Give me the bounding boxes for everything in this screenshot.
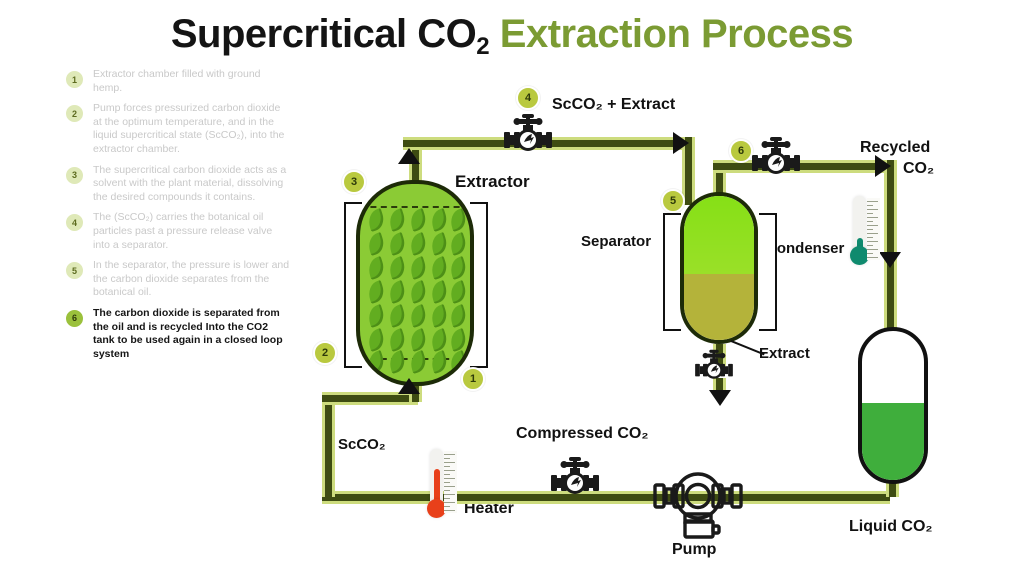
label-scco2: ScCO₂ bbox=[338, 436, 386, 453]
hemp-fill bbox=[360, 184, 470, 382]
label-recycled-co2-line1: Recycled bbox=[860, 139, 930, 157]
pipe-recycle-down bbox=[884, 160, 897, 332]
step-text-4: The (ScCO₂) carries the botanical oil pa… bbox=[93, 211, 292, 252]
heater-thermo-tube bbox=[430, 449, 443, 505]
step-badge-4: 4 bbox=[64, 212, 85, 233]
step-item-4: 4 The (ScCO₂) carries the botanical oil … bbox=[64, 211, 292, 252]
condenser-thermo-scale bbox=[867, 198, 880, 260]
label-liquid-co2: Liquid CO₂ bbox=[849, 518, 933, 536]
arrow-extractor-inlet bbox=[398, 378, 420, 394]
liquid-co2-tank[interactable] bbox=[858, 327, 928, 484]
page-title-black: Supercritical CO bbox=[171, 12, 476, 56]
valve-extractor-outlet[interactable] bbox=[500, 112, 556, 165]
label-recycled-co2-line2: CO₂ bbox=[903, 160, 934, 178]
condenser-thermo-tube bbox=[853, 196, 866, 252]
label-scco2-plus-extract: ScCO₂ + Extract bbox=[552, 96, 675, 114]
page-title-subscript: 2 bbox=[476, 33, 489, 60]
step-text-5: In the separator, the pressure is lower … bbox=[93, 259, 292, 300]
pipe-extractor-feed-v bbox=[322, 392, 335, 497]
badge-5[interactable]: 5 bbox=[661, 189, 685, 213]
separator-jacket-left bbox=[663, 213, 681, 331]
separator-jacket-right bbox=[759, 213, 777, 331]
arrow-to-separator bbox=[673, 132, 689, 154]
step-badge-3: 3 bbox=[64, 165, 85, 186]
diagram-canvas: Supercritical CO2 Extraction Process 1 E… bbox=[0, 0, 1024, 576]
page-title-green: Extraction Process bbox=[500, 12, 853, 56]
step-text-6: The carbon dioxide is separated from the… bbox=[93, 307, 292, 361]
separator-gas-phase bbox=[684, 196, 754, 274]
label-separator: Separator bbox=[581, 233, 651, 250]
separator-vessel[interactable] bbox=[680, 192, 758, 344]
label-extract: Extract bbox=[759, 345, 810, 362]
label-compressed-co2: Compressed CO₂ bbox=[516, 425, 648, 443]
heater-thermo-scale bbox=[444, 451, 457, 513]
valve-extract-drain[interactable] bbox=[692, 341, 736, 398]
page-title: Supercritical CO2 Extraction Process bbox=[0, 12, 1024, 57]
step-item-6: 6 The carbon dioxide is separated from t… bbox=[64, 307, 292, 361]
step-item-2: 2 Pump forces pressurized carbon dioxide… bbox=[64, 102, 292, 156]
steps-list: 1 Extractor chamber filled with ground h… bbox=[64, 68, 292, 368]
step-badge-1: 1 bbox=[64, 69, 85, 90]
step-item-3: 3 The supercritical carbon dioxide acts … bbox=[64, 164, 292, 205]
step-item-5: 5 In the separator, the pressure is lowe… bbox=[64, 259, 292, 300]
step-badge-2: 2 bbox=[64, 103, 85, 124]
step-item-1: 1 Extractor chamber filled with ground h… bbox=[64, 68, 292, 95]
badge-2[interactable]: 2 bbox=[313, 341, 337, 365]
valve-recycle[interactable] bbox=[748, 135, 804, 188]
arrow-extractor-outlet bbox=[398, 148, 420, 164]
badge-1[interactable]: 1 bbox=[461, 367, 485, 391]
badge-4[interactable]: 4 bbox=[516, 86, 540, 110]
step-badge-5: 5 bbox=[64, 260, 85, 281]
arrow-recycle-down bbox=[879, 252, 901, 268]
extractor-vessel[interactable] bbox=[356, 180, 474, 386]
label-condenser: Condenser bbox=[766, 240, 844, 257]
step-text-3: The supercritical carbon dioxide acts as… bbox=[93, 164, 292, 205]
valve-compressed-co2[interactable] bbox=[547, 455, 603, 508]
step-badge-6: 6 bbox=[64, 308, 85, 329]
arrow-recycled bbox=[875, 155, 891, 177]
step-text-1: Extractor chamber filled with ground hem… bbox=[93, 68, 292, 95]
badge-3[interactable]: 3 bbox=[342, 170, 366, 194]
pipe-bottom-right bbox=[730, 491, 890, 504]
step-text-2: Pump forces pressurized carbon dioxide a… bbox=[93, 102, 292, 156]
separator-oil-phase bbox=[684, 274, 754, 340]
pump-unit[interactable] bbox=[652, 464, 744, 547]
badge-6[interactable]: 6 bbox=[729, 139, 753, 163]
tank-liquid-level bbox=[862, 403, 924, 480]
